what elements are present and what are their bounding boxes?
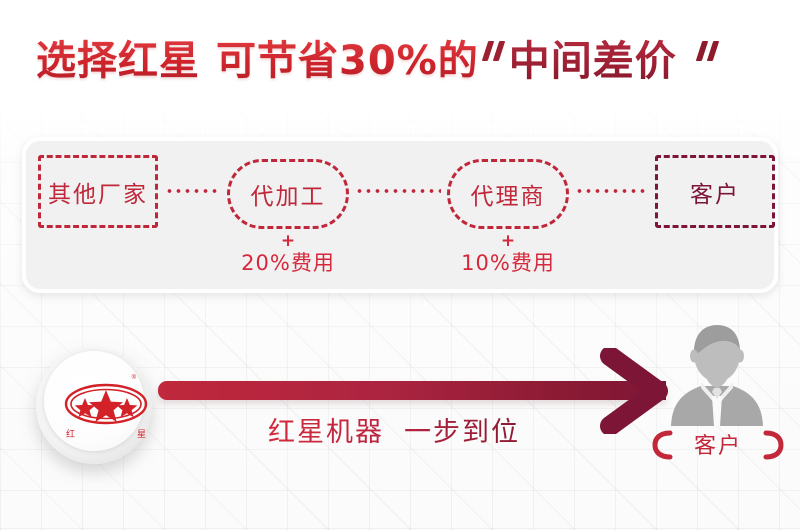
bracket-left-icon: [652, 430, 674, 460]
logo-char-right: 星: [137, 427, 146, 440]
chain-node-label: 代理商: [471, 177, 546, 211]
tagline-claim: 一步到位: [404, 417, 520, 448]
plus-sign: +: [213, 232, 363, 250]
customer-avatar-icon: [668, 322, 766, 426]
headline-part1: 选择红星: [36, 38, 200, 84]
tagline: 红星机器一步到位: [268, 410, 520, 450]
chain-node-other-factory: 其他厂家: [38, 155, 158, 228]
fee-amount: 20%费用: [213, 250, 363, 276]
arrow-head-icon: [596, 348, 676, 434]
quote-close-icon: [693, 39, 723, 83]
logo-subtext: 红 星: [66, 427, 146, 440]
progress-arrow-shaft: [158, 381, 666, 400]
customer-label-group: 客户: [648, 427, 788, 461]
headline: 选择红星 可节省30%的 中间差价: [36, 30, 776, 92]
chain-node-label: 其他厂家: [48, 175, 148, 209]
fee-markup-agent: + 10%费用: [433, 232, 583, 276]
customer-label: 客户: [694, 428, 742, 460]
chain-node-label: 客户: [690, 175, 740, 209]
chain-node-label: 代加工: [251, 177, 326, 211]
bracket-right-icon: [762, 430, 784, 460]
headline-part2: 可节省30%的: [216, 38, 479, 84]
chain-connector-1: [165, 189, 221, 193]
plus-sign: +: [433, 232, 583, 250]
logo-char-left: 红: [66, 427, 75, 440]
distribution-chain-panel: 其他厂家 代加工 代理商 客户 + 20%费用 + 10%费用: [22, 137, 778, 293]
chain-node-customer: 客户: [655, 155, 775, 228]
chain-connector-2: [355, 189, 441, 193]
headline-highlight: 中间差价: [509, 38, 677, 84]
fee-amount: 10%费用: [433, 250, 583, 276]
chain-node-oem: 代加工: [227, 159, 349, 229]
three-stars-oval-icon: [64, 379, 148, 429]
brand-logo-badge: ® 红 星: [32, 340, 156, 464]
tagline-brand: 红星机器: [268, 417, 384, 448]
fee-markup-oem: + 20%费用: [213, 232, 363, 276]
registered-mark: ®: [132, 375, 136, 381]
chain-connector-3: [575, 189, 649, 193]
quote-open-icon: [479, 39, 509, 83]
chain-node-agent: 代理商: [447, 159, 569, 229]
poster-stage: 选择红星 可节省30%的 中间差价 其他厂家 代加工 代理商 客户 + 20%费…: [0, 0, 800, 530]
badge-inner-disc: ® 红 星: [44, 351, 144, 451]
